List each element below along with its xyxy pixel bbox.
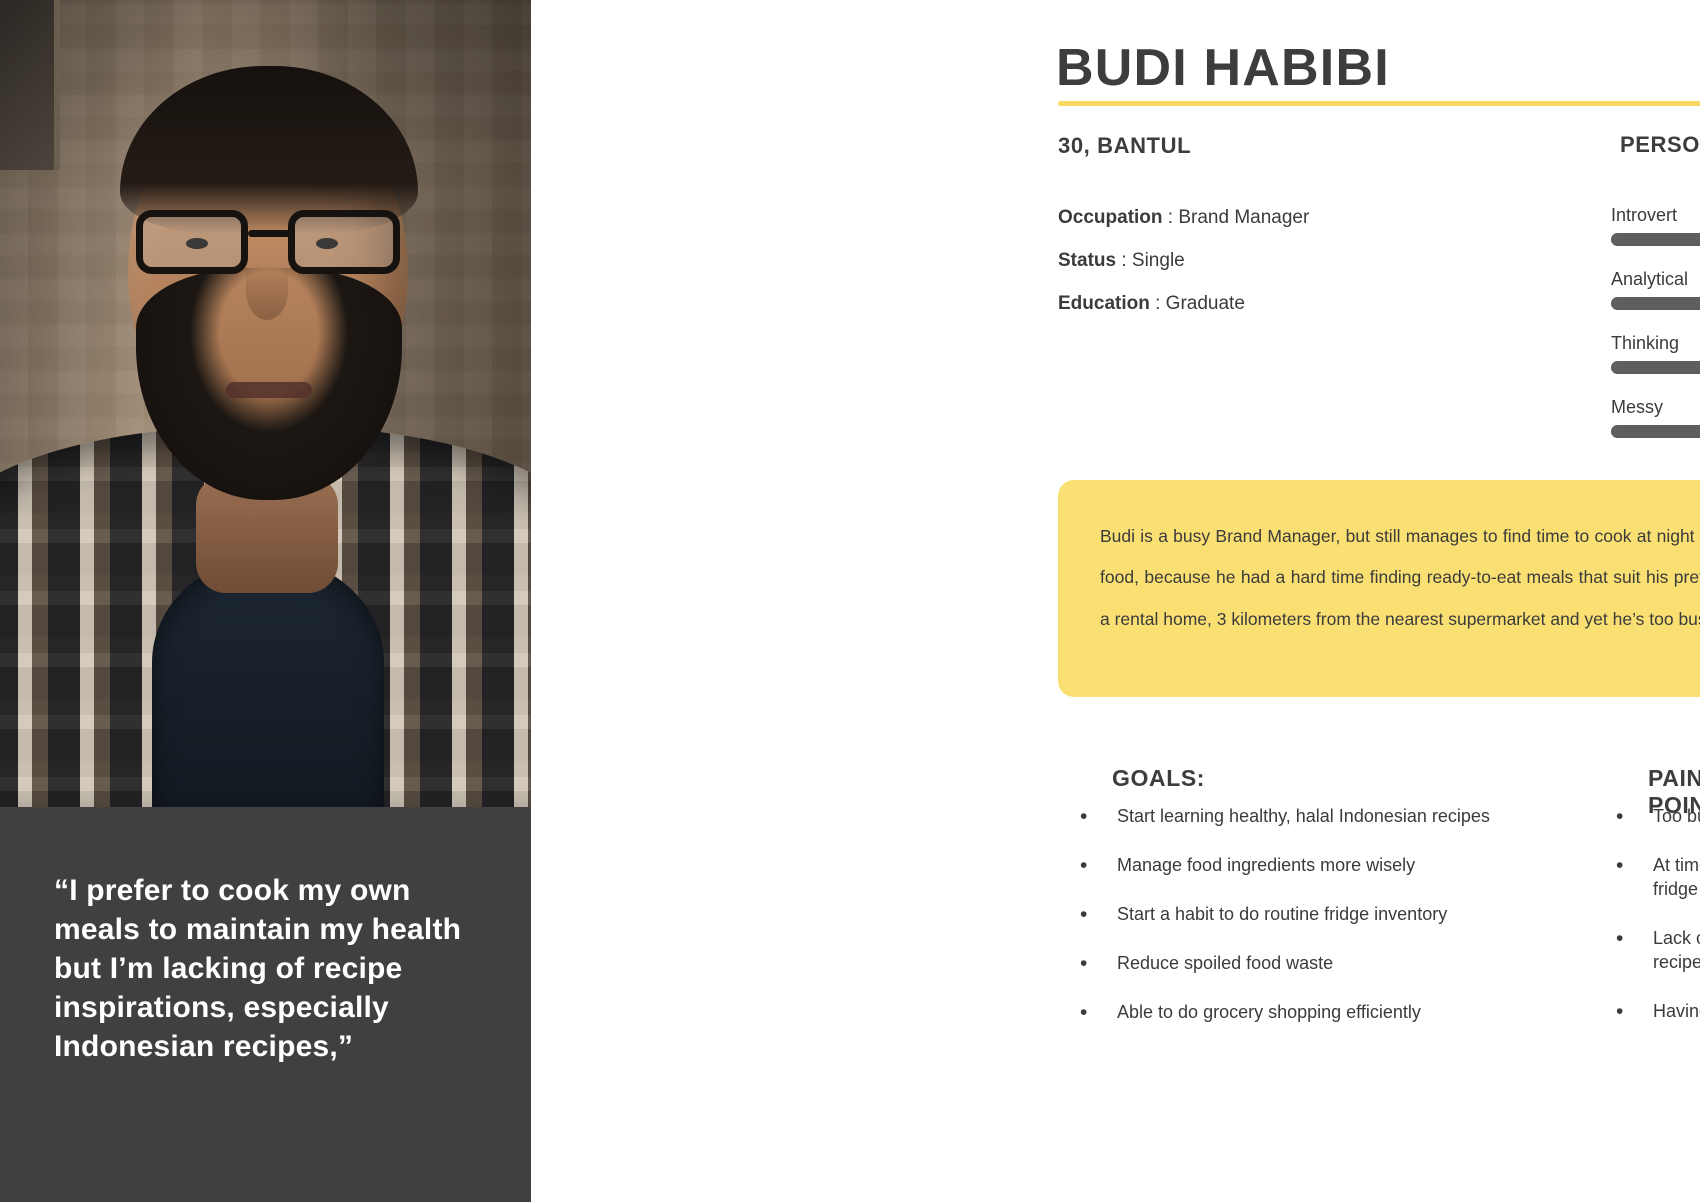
fact-key: Education bbox=[1058, 293, 1150, 314]
fact-value: : Single bbox=[1121, 250, 1184, 271]
fact-status: Status : Single bbox=[1058, 250, 1309, 272]
trait-slider-fill bbox=[1611, 361, 1700, 374]
goals-heading: GOALS: bbox=[1112, 765, 1205, 792]
persona-photo bbox=[0, 0, 531, 807]
goal-item: Start a habit to do routine fridge inven… bbox=[1076, 903, 1546, 927]
trait-analytical-creative: Analytical Creative bbox=[1611, 269, 1700, 310]
fact-education: Education : Graduate bbox=[1058, 293, 1309, 315]
goal-item: Reduce spoiled food waste bbox=[1076, 952, 1546, 976]
tshirt bbox=[152, 557, 384, 807]
pain-points-list: Too busy to do grocery shopping frequent… bbox=[1612, 805, 1700, 1049]
trait-slider-track[interactable] bbox=[1611, 297, 1700, 310]
left-column: “I prefer to cook my own meals to mainta… bbox=[0, 0, 531, 1202]
bio-callout: Budi is a busy Brand Manager, but still … bbox=[1058, 480, 1700, 697]
title-underline bbox=[1058, 101, 1700, 106]
eyeglasses-icon bbox=[130, 210, 406, 276]
right-lens bbox=[288, 210, 400, 274]
page-title: BUDI HABIBI bbox=[1056, 38, 1390, 98]
goal-item: Manage food ingredients more wisely bbox=[1076, 854, 1546, 878]
goal-item: Able to do grocery shopping efficiently bbox=[1076, 1001, 1546, 1025]
trait-label-left: Thinking bbox=[1611, 333, 1679, 354]
right-column: BUDI HABIBI 30, BANTUL Occupation : Bran… bbox=[531, 0, 1700, 1202]
fact-list: Occupation : Brand Manager Status : Sing… bbox=[1058, 207, 1309, 336]
trait-slider-fill bbox=[1611, 425, 1700, 438]
goals-list: Start learning healthy, halal Indonesian… bbox=[1076, 805, 1546, 1050]
trait-labels: Messy Organized bbox=[1611, 397, 1700, 418]
personality-traits: Introvert Extrovert Analytical Creative bbox=[1611, 205, 1700, 461]
pain-point-item: Too busy to do grocery shopping frequent… bbox=[1612, 805, 1700, 829]
fact-value: : Graduate bbox=[1155, 293, 1245, 314]
trait-slider-track[interactable] bbox=[1611, 233, 1700, 246]
trait-slider-fill bbox=[1611, 233, 1700, 246]
fact-key: Occupation bbox=[1058, 207, 1163, 228]
trait-label-left: Messy bbox=[1611, 397, 1663, 418]
trait-labels: Analytical Creative bbox=[1611, 269, 1700, 290]
trait-slider-fill bbox=[1611, 297, 1700, 310]
pain-point-item: Having hard time to manage fresh vegetab… bbox=[1612, 1000, 1700, 1024]
trait-labels: Thinking Feeling bbox=[1611, 333, 1700, 354]
pain-point-item: Lack of inspirations of healthy, halal I… bbox=[1612, 927, 1700, 975]
trait-labels: Introvert Extrovert bbox=[1611, 205, 1700, 226]
persona-quote: “I prefer to cook my own meals to mainta… bbox=[54, 871, 485, 1066]
pain-point-item: At times forget what ingredients he stil… bbox=[1612, 854, 1700, 902]
trait-slider-track[interactable] bbox=[1611, 425, 1700, 438]
mouth bbox=[226, 382, 312, 398]
trait-label-left: Introvert bbox=[1611, 205, 1677, 226]
glasses-bridge bbox=[248, 230, 290, 237]
fact-key: Status bbox=[1058, 250, 1116, 271]
persona-subtitle: 30, BANTUL bbox=[1058, 133, 1191, 159]
persona-page: “I prefer to cook my own meals to mainta… bbox=[0, 0, 1700, 1202]
trait-introvert-extrovert: Introvert Extrovert bbox=[1611, 205, 1700, 246]
trait-slider-track[interactable] bbox=[1611, 361, 1700, 374]
bio-text: Budi is a busy Brand Manager, but still … bbox=[1100, 516, 1700, 640]
personality-heading: PERSONALITY: bbox=[1620, 132, 1700, 158]
fact-occupation: Occupation : Brand Manager bbox=[1058, 207, 1309, 229]
left-lens bbox=[136, 210, 248, 274]
fact-value: : Brand Manager bbox=[1168, 207, 1310, 228]
trait-label-left: Analytical bbox=[1611, 269, 1688, 290]
wall-picture-frame bbox=[0, 0, 60, 170]
trait-messy-organized: Messy Organized bbox=[1611, 397, 1700, 438]
trait-thinking-feeling: Thinking Feeling bbox=[1611, 333, 1700, 374]
quote-panel: “I prefer to cook my own meals to mainta… bbox=[0, 807, 531, 1202]
goal-item: Start learning healthy, halal Indonesian… bbox=[1076, 805, 1546, 829]
